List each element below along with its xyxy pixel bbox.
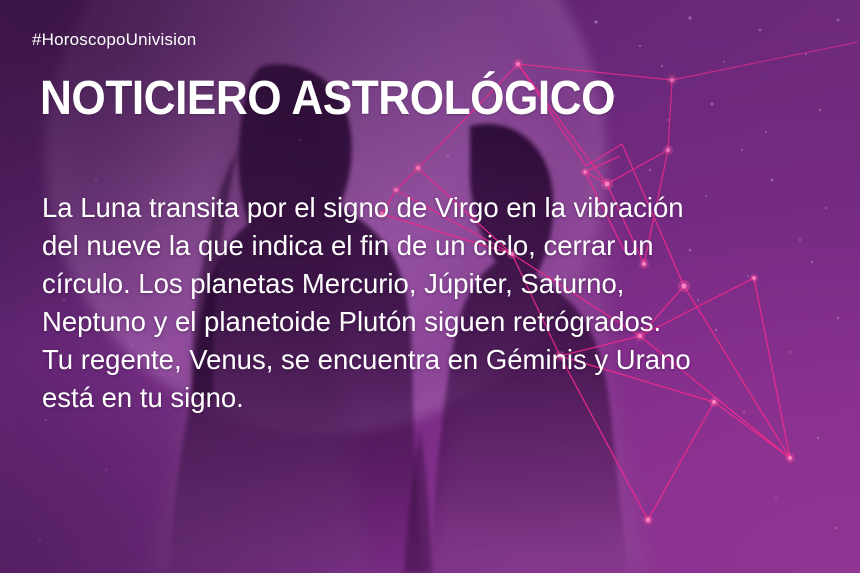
page-title: NOTICIERO ASTROLÓGICO — [40, 75, 615, 123]
body-line: círculo. Los planetas Mercurio, Júpiter,… — [42, 265, 832, 303]
body-line: Neptuno y el planetoide Plutón siguen re… — [42, 303, 832, 341]
body-line: del nueve la que indica el fin de un cic… — [42, 227, 832, 265]
body-line: está en tu signo. — [42, 379, 832, 417]
card-content: #HoroscopoUnivision NOTICIERO ASTROLÓGIC… — [0, 0, 860, 573]
body-line: Tu regente, Venus, se encuentra en Gémin… — [42, 341, 832, 379]
hashtag-label: #HoroscopoUnivision — [32, 30, 196, 50]
horoscope-body-text: La Luna transita por el signo de Virgo e… — [42, 189, 832, 417]
horoscope-card: #HoroscopoUnivision NOTICIERO ASTROLÓGIC… — [0, 0, 860, 573]
body-line: La Luna transita por el signo de Virgo e… — [42, 189, 832, 227]
